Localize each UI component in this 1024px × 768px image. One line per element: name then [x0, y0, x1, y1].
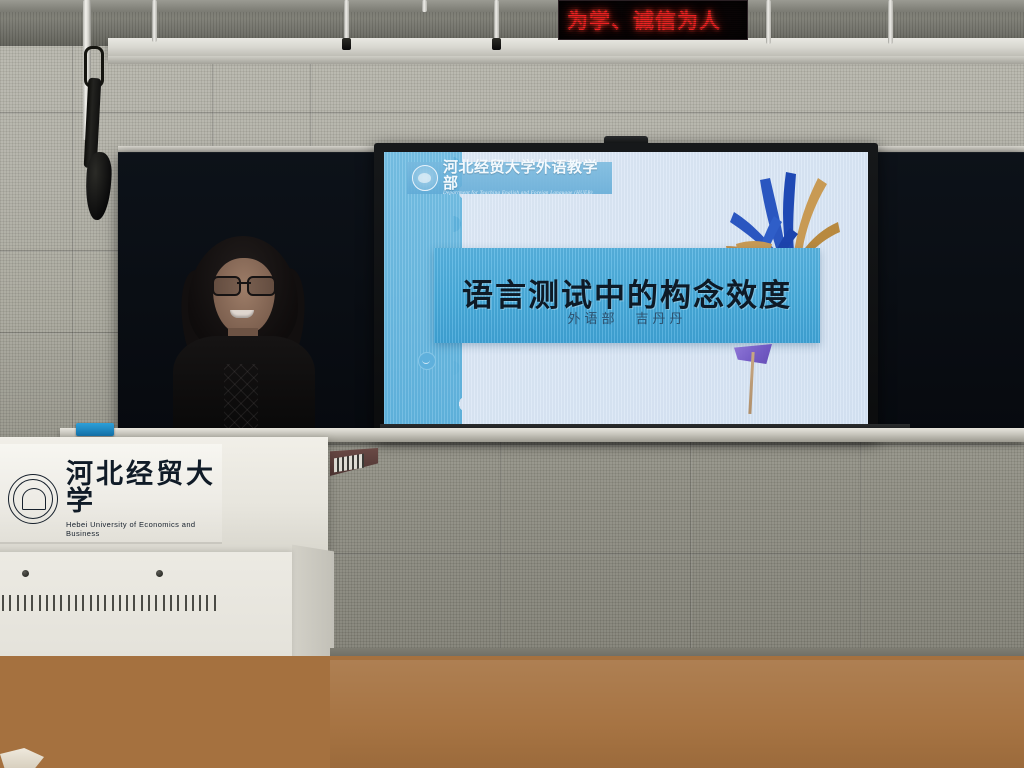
podium-knob[interactable] — [22, 570, 29, 577]
podium-vent-slot — [9, 595, 11, 611]
classroom-photo: 为学、诚信为人 C — [0, 0, 1024, 768]
podium-vent-slot — [46, 595, 48, 611]
podium-vent-slot — [24, 595, 26, 611]
podium-vent-slot — [2, 595, 4, 611]
podium-vent-slot — [141, 595, 143, 611]
slide-header-logo: 河北经贸大学外语教学部 Department for Teaching Engl… — [407, 162, 612, 194]
eyeglasses-icon — [212, 276, 276, 292]
ceiling-rod — [888, 0, 893, 44]
podium-vent-slot — [39, 595, 41, 611]
slide-subtitle: 外语部 吉丹丹 — [434, 308, 820, 327]
podium-vent-slot — [126, 595, 128, 611]
podium-vent-slot — [163, 595, 165, 611]
podium-vent-slot — [82, 595, 84, 611]
podium-name-chinese: 河北经贸大学 — [66, 461, 216, 515]
podium-vent-slot — [133, 595, 135, 611]
podium-vent-slot — [112, 595, 114, 611]
podium-vent-slot — [192, 595, 194, 611]
ceiling-rod — [152, 0, 157, 42]
sweater-knit-pattern — [224, 364, 258, 438]
ceiling-rod-tip — [342, 38, 351, 50]
slide-logo-english: Department for Teaching English and Fore… — [443, 191, 607, 196]
podium-vent-slot — [199, 595, 201, 611]
ceiling-soffit-lip — [108, 56, 1024, 64]
wall-seam — [72, 0, 74, 446]
led-banner-text: 为学、诚信为人 — [567, 5, 721, 35]
podium-vent-slot — [206, 595, 208, 611]
podium-vent-slot — [68, 595, 70, 611]
university-seal-icon — [8, 474, 58, 524]
presenter: C — [168, 236, 318, 436]
podium-vent-slot — [214, 595, 216, 611]
podium-vent-slot — [60, 595, 62, 611]
podium-vent-slot — [119, 595, 121, 611]
podium-vent-slot — [177, 595, 179, 611]
lens-left — [212, 276, 241, 296]
podium-vent-slot — [104, 595, 106, 611]
podium-knob[interactable] — [156, 570, 163, 577]
floor-reflection — [330, 660, 1024, 768]
ceiling-rod-tip — [492, 38, 501, 50]
podium-vent-slot — [31, 595, 33, 611]
slide-logo-chinese: 河北经贸大学外语教学部 — [443, 160, 607, 192]
podium-vent-slot — [170, 595, 172, 611]
presentation-slide[interactable]: 河北经贸大学外语教学部 Department for Teaching Engl… — [384, 152, 868, 424]
podium-vent-slot — [75, 595, 77, 611]
blue-eraser[interactable] — [76, 423, 114, 436]
slide-title-plate: 语言测试中的构念效度 外语部 吉丹丹 — [434, 248, 820, 343]
podium-vent-slot — [148, 595, 150, 611]
podium-branding: 河北经贸大学 Hebei University of Economics and… — [8, 468, 216, 530]
university-crest-icon — [412, 165, 438, 191]
wall-seam — [0, 112, 1024, 114]
podium-vent-slot — [185, 595, 187, 611]
podium-vent-slot — [17, 595, 19, 611]
podium-vent-slot — [53, 595, 55, 611]
podium-name-english: Hebei University of Economics and Busine… — [66, 520, 216, 538]
glasses-bridge — [237, 282, 251, 284]
led-banner: 为学、诚信为人 — [558, 0, 748, 40]
smiley-badge-icon — [418, 352, 436, 370]
podium-vent-slot — [155, 595, 157, 611]
podium-vent-slot — [97, 595, 99, 611]
ceiling-rod — [422, 0, 427, 12]
ceiling-rod — [766, 0, 771, 44]
lens-right — [247, 276, 276, 296]
ceiling-rod — [494, 0, 499, 42]
podium-vent-slot — [90, 595, 92, 611]
ceiling-soffit — [108, 38, 1024, 58]
